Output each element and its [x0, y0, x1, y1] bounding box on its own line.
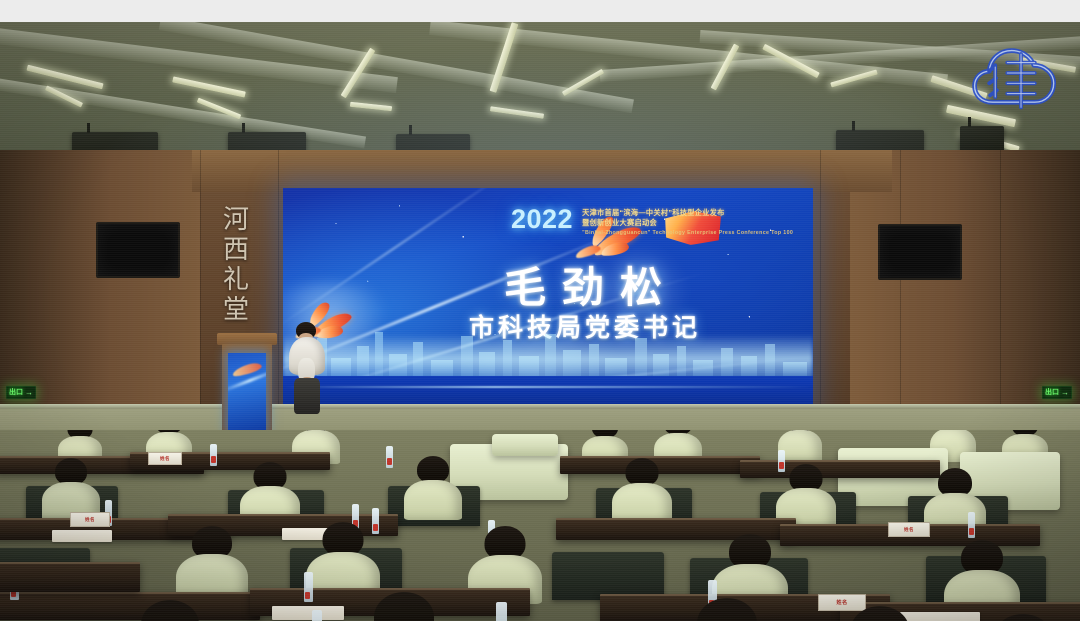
person-body	[404, 480, 462, 520]
water-bottle	[312, 610, 322, 621]
calligraphy-char: 河	[223, 206, 249, 234]
led-year: 2022	[511, 206, 573, 233]
audience-area: 姓名	[0, 430, 1080, 621]
desk-document	[52, 530, 112, 542]
water-bottle	[304, 572, 313, 602]
podium-led-panel	[228, 353, 266, 431]
ceiling-light	[197, 98, 242, 120]
exit-sign-label: 出口	[1045, 389, 1059, 396]
stage-soffit	[192, 150, 892, 192]
screenshot-frame: 河 西 礼 堂 2022	[0, 0, 1080, 621]
wall-monitor-right	[878, 224, 962, 280]
audience-person	[968, 614, 1078, 621]
calligraphy-char: 西	[223, 236, 249, 264]
led-speaker-name: 毛劲松	[433, 268, 733, 310]
person-head	[141, 600, 199, 621]
exit-sign-label: 出口	[9, 389, 23, 396]
person-head	[993, 614, 1053, 621]
ceiling-light	[960, 130, 1019, 152]
screen-base-highlight	[283, 386, 813, 388]
name-placard: 姓名	[148, 452, 182, 465]
exit-sign-left: 出口 →	[6, 386, 36, 399]
chair-back	[552, 552, 664, 600]
audience-person	[118, 600, 222, 621]
jinyun-cloud-logo	[972, 42, 1058, 116]
led-headline-line1: 天津市首届“滨海—中关村”科技型企业发布	[582, 208, 793, 218]
desk-document	[272, 606, 344, 620]
letterbox-band-top	[0, 0, 1080, 22]
audience-person	[612, 458, 672, 524]
audience-person	[672, 598, 782, 621]
led-headline-line2: 暨创新创业大赛启动会	[582, 218, 793, 228]
audience-person	[404, 456, 462, 520]
exit-arrow-icon: →	[1061, 389, 1069, 397]
calligraphy-char: 堂	[223, 296, 249, 324]
exit-sign-right: 出口 →	[1042, 386, 1072, 399]
speaker-legs	[294, 378, 320, 414]
ceiling-light	[830, 69, 878, 87]
audience-desk	[0, 562, 140, 592]
water-bottle	[210, 444, 217, 466]
audience-person	[42, 458, 100, 520]
screen-bottom-glow	[283, 334, 813, 380]
stage-edge	[0, 404, 1080, 409]
ceiling-light	[762, 44, 820, 78]
water-bottle	[386, 446, 393, 468]
person-head	[55, 458, 87, 485]
audience-desk	[740, 460, 940, 478]
water-bottle	[496, 602, 507, 621]
ceiling-light	[711, 44, 740, 91]
name-placard: 姓名	[70, 512, 110, 527]
led-headline-block: 2022 天津市首届“滨海—中关村”科技型企业发布 暨创新创业大赛启动会 "Bi…	[511, 206, 793, 237]
water-bottle	[968, 512, 975, 538]
ceiling-light	[341, 48, 376, 99]
calligraphy-char: 礼	[223, 266, 249, 294]
person-head	[626, 458, 659, 486]
ceiling-light	[490, 106, 544, 118]
exit-arrow-icon: →	[25, 389, 33, 397]
speaker-person	[286, 322, 328, 414]
ceiling-light	[172, 76, 246, 97]
lounge-sofa	[492, 434, 558, 456]
person-head	[851, 606, 910, 621]
ceiling-light	[26, 65, 103, 90]
person-head	[417, 456, 449, 483]
person-head	[374, 592, 434, 621]
ceiling-light	[350, 102, 392, 111]
audience-person	[826, 606, 934, 621]
person-head	[697, 598, 757, 621]
name-placard: 姓名	[888, 522, 930, 537]
ceiling-light	[490, 22, 519, 93]
ceiling-light	[562, 69, 604, 96]
ceiling-light	[45, 85, 83, 107]
person-head	[323, 522, 364, 556]
audience-person	[176, 526, 248, 602]
led-stage-screen: 2022 天津市首届“滨海—中关村”科技型企业发布 暨创新创业大赛启动会 "Bi…	[283, 188, 813, 410]
hall-name-calligraphy: 河 西 礼 堂	[214, 206, 258, 346]
audience-person	[350, 592, 458, 621]
led-headline-english: "Binhai-Zhongguancun" Technology Enterpr…	[582, 230, 793, 237]
wall-monitor-left	[96, 222, 180, 278]
